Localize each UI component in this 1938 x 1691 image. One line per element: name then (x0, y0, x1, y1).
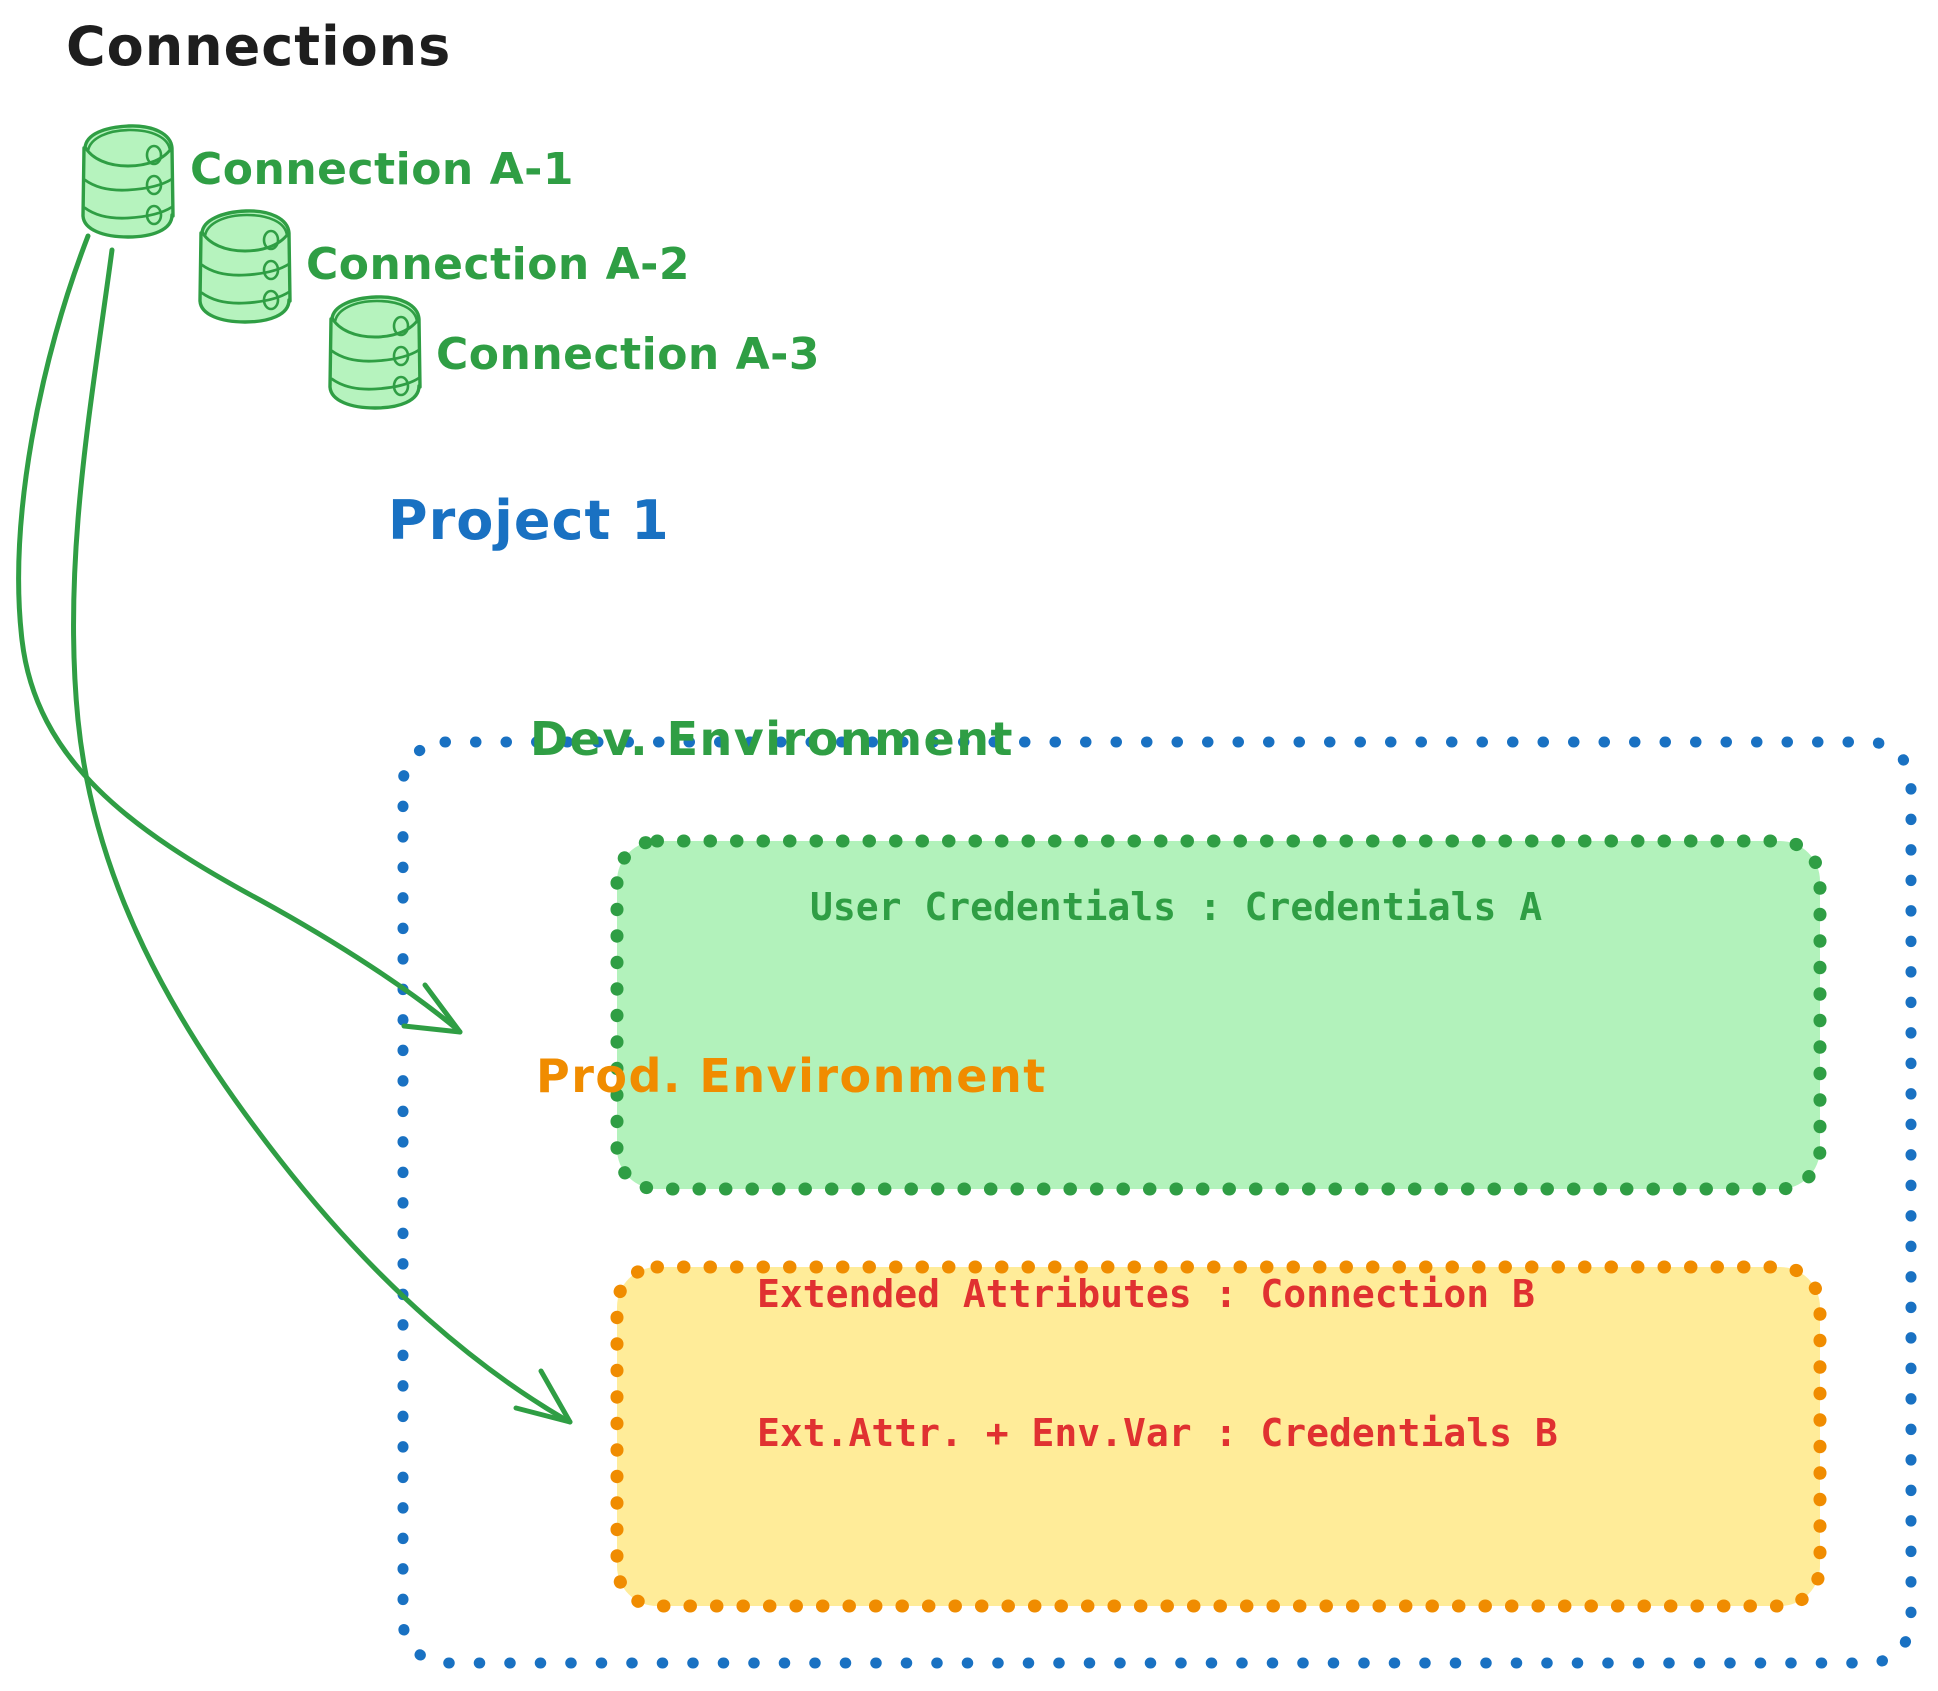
database-cylinder-icon-3[interactable] (330, 297, 420, 408)
dev-environment-title: Dev. Environment (530, 711, 1014, 767)
connection-label-a3: Connection A-3 (436, 328, 820, 382)
dev-credentials-row: User Credentials : Credentials A (810, 884, 1542, 930)
database-cylinder-icon-2[interactable] (200, 211, 290, 322)
diagram-canvas: Connections Connection A-1 Connection A-… (0, 0, 1938, 1691)
page-title: Connections (66, 14, 451, 80)
prod-attributes-block: Extended Attributes : Connection B Ext.A… (757, 1178, 1558, 1549)
connection-label-a1: Connection A-1 (190, 143, 574, 197)
prod-environment-title: Prod. Environment (536, 1048, 1047, 1104)
prod-extended-attributes-row: Extended Attributes : Connection B (757, 1271, 1558, 1317)
prod-ext-attr-env-var-row: Ext.Attr. + Env.Var : Credentials B (757, 1410, 1558, 1456)
database-cylinder-icon-1[interactable] (83, 126, 173, 237)
connection-label-a2: Connection A-2 (306, 238, 690, 292)
project-title: Project 1 (388, 488, 670, 554)
arrow-connection-a1-to-prod (73, 250, 570, 1422)
